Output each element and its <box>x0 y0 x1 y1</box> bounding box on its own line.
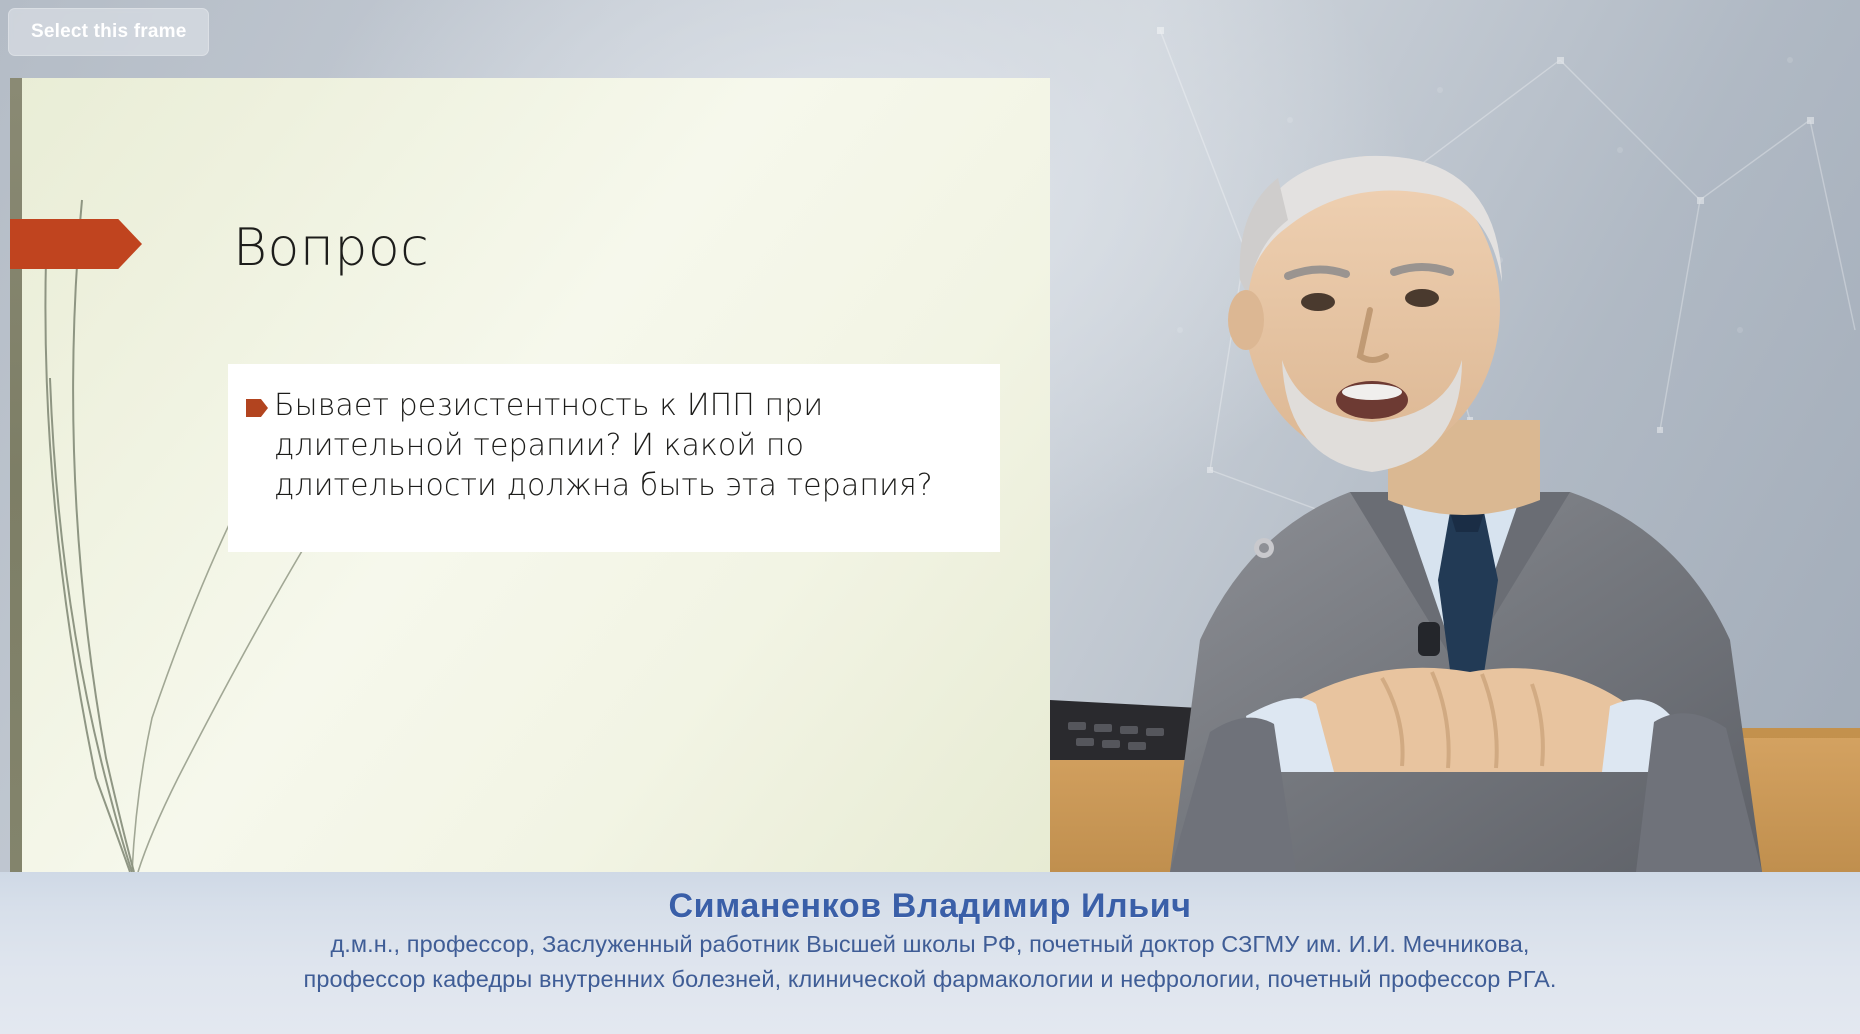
video-player-viewer: Вопрос Бывает резистентность к ИПП при д… <box>0 0 1860 1034</box>
speaker-video-region <box>1050 60 1860 872</box>
bullet-text: Бывает резистентность к ИПП при длительн… <box>274 386 982 506</box>
list-item: Бывает резистентность к ИПП при длительн… <box>246 386 982 506</box>
slide-title: Вопрос <box>233 218 429 278</box>
arrow-bullet-icon <box>246 399 268 417</box>
slide-content-box: Бывает резистентность к ИПП при длительн… <box>228 364 1000 552</box>
speaker-credentials-line-2: профессор кафедры внутренних болезней, к… <box>0 962 1860 996</box>
speaker-portrait <box>1050 60 1860 872</box>
select-this-frame-button[interactable]: Select this frame <box>8 8 209 56</box>
presentation-slide: Вопрос Бывает резистентность к ИПП при д… <box>10 78 1050 872</box>
speaker-credentials-line-1: д.м.н., профессор, Заслуженный работник … <box>0 927 1860 961</box>
speaker-caption-band: Симаненков Владимир Ильич д.м.н., профес… <box>0 872 1860 1034</box>
title-arrow-shape <box>10 219 142 269</box>
speaker-name: Симаненков Владимир Ильич <box>0 886 1860 927</box>
